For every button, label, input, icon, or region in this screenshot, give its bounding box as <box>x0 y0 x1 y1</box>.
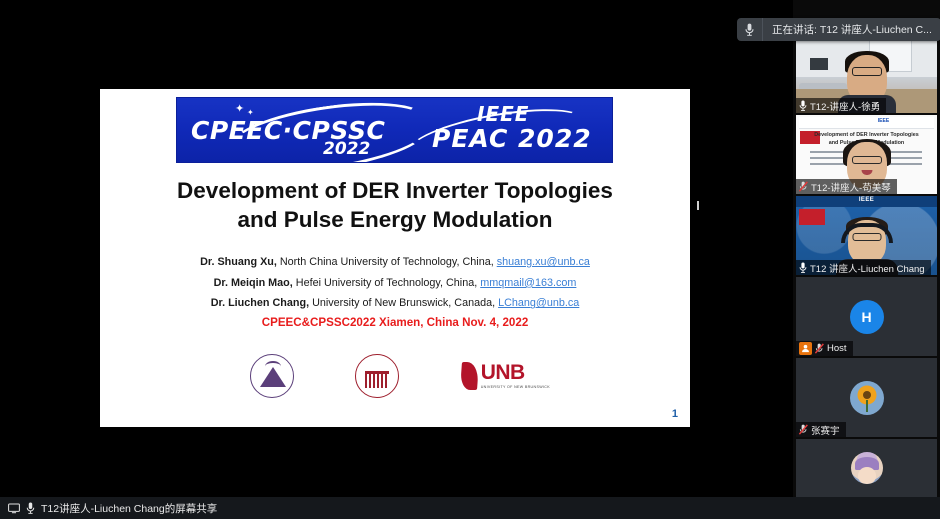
avatar <box>850 381 884 415</box>
microphone-muted-icon <box>799 424 808 435</box>
author-affiliation: Hefei University of Technology, China, <box>293 277 480 289</box>
participant-name: T12-讲座人-徐勇 <box>810 99 880 113</box>
north-china-university-of-technology-logo <box>250 354 294 398</box>
participant-namebar: T12-讲座人-徐勇 <box>796 98 886 113</box>
conference-venue-date: CPEEC&CPSSC2022 Xiamen, China Nov. 4, 20… <box>140 316 650 329</box>
participant-namebar: 张赛宇 <box>796 422 846 437</box>
microphone-icon <box>799 262 807 273</box>
microphone-muted-icon <box>799 181 808 192</box>
microphone-icon <box>26 502 35 514</box>
presentation-slide: ✦ ✦ CPEEC·CPSSC 2022 IEEE PEAC 2022 Deve… <box>100 89 690 427</box>
sponsor-logos: UNB UNIVERSITY OF NEW BRUNSWICK <box>250 352 550 400</box>
slide-title-line-2: and Pulse Energy Modulation <box>122 206 668 235</box>
microphone-icon <box>799 100 807 111</box>
participant-tile-gumeiqin[interactable]: IEEE Development of DER Inverter Topolog… <box>796 115 937 194</box>
host-badge-icon <box>799 342 812 355</box>
peac-logo-text: PEAC 2022 <box>432 124 592 153</box>
ieee-thumb-label: IEEE <box>878 118 889 124</box>
thumb-slide-title-1: Development of DER Inverter Topologies <box>802 132 931 138</box>
avatar <box>851 452 883 484</box>
author-name: Dr. Meiqin Mao, <box>214 277 293 289</box>
author-affiliation: North China University of Technology, Ch… <box>277 256 497 268</box>
author-name: Dr. Liuchen Chang, <box>211 297 309 309</box>
participant-tile-xuyong[interactable]: T12-讲座人-徐勇 <box>796 34 937 113</box>
unb-wordmark: UNB <box>481 363 550 382</box>
hefei-university-of-technology-logo <box>355 354 399 398</box>
microphone-icon <box>737 18 763 41</box>
screen-share-icon <box>8 503 20 514</box>
slide-title-line-1: Development of DER Inverter Topologies <box>122 177 668 206</box>
ieee-logo-text: IEEE <box>477 102 529 126</box>
participant-tile-partial[interactable] <box>796 439 937 497</box>
active-speaker-label: 正在讲话: T12 讲座人-Liuchen C... <box>763 22 932 37</box>
unb-sail-icon <box>460 362 479 390</box>
participant-tile-zhangsaiyu[interactable]: 张赛宇 <box>796 358 937 437</box>
active-speaker-pill[interactable]: 正在讲话: T12 讲座人-Liuchen C... <box>737 18 940 41</box>
slide-title: Development of DER Inverter Topologies a… <box>122 177 668 235</box>
participant-namebar: Host <box>796 341 853 356</box>
screen-share-statusbar: T12讲座人-Liuchen Chang的屏幕共享 <box>0 497 940 519</box>
unb-subtitle: UNIVERSITY OF NEW BRUNSWICK <box>481 385 550 389</box>
participant-strip[interactable]: T12-讲座人-徐勇 IEEE Development of DER Inver… <box>793 0 940 497</box>
author-email-link[interactable]: mmqmail@163.com <box>480 277 576 289</box>
mouse-cursor <box>697 201 699 210</box>
conference-banner: ✦ ✦ CPEEC·CPSSC 2022 IEEE PEAC 2022 <box>176 97 613 163</box>
author-name: Dr. Shuang Xu, <box>200 256 277 268</box>
unb-logo: UNB UNIVERSITY OF NEW BRUNSWICK <box>461 362 550 390</box>
author-list: Dr. Shuang Xu, North China University of… <box>140 252 650 314</box>
participant-tile-liuchen-chang[interactable]: IEEE T12 讲座人-Liuchen Chang <box>796 196 937 275</box>
ieee-backdrop-label: IEEE <box>859 197 874 203</box>
participant-name: T12-讲座人-苟美琴 <box>811 180 891 194</box>
participant-name: T12 讲座人-Liuchen Chang <box>810 261 925 275</box>
screen-share-label: T12讲座人-Liuchen Chang的屏幕共享 <box>41 501 217 516</box>
author-row: Dr. Shuang Xu, North China University of… <box>140 252 650 273</box>
participant-name: 张赛宇 <box>811 423 840 437</box>
participant-tile-host[interactable]: H Host <box>796 277 937 356</box>
participant-namebar: T12-讲座人-苟美琴 <box>796 179 897 194</box>
star-icon: ✦ <box>235 102 244 115</box>
avatar: H <box>850 300 884 334</box>
participant-namebar: T12 讲座人-Liuchen Chang <box>796 260 931 275</box>
cpeec-logo-year: 2022 <box>323 139 370 159</box>
shared-screen-stage: ✦ ✦ CPEEC·CPSSC 2022 IEEE PEAC 2022 Deve… <box>0 0 790 497</box>
author-affiliation: University of New Brunswick, Canada, <box>309 297 498 309</box>
zoom-meeting-window: 录制中 正在讲话: T12 讲座人-Liuchen C... ✦ ✦ CPEEC… <box>0 0 940 519</box>
participant-name: Host <box>827 343 847 354</box>
author-email-link[interactable]: LChang@unb.ca <box>498 297 579 309</box>
author-row: Dr. Liuchen Chang, University of New Bru… <box>140 293 650 314</box>
author-email-link[interactable]: shuang.xu@unb.ca <box>497 256 590 268</box>
author-row: Dr. Meiqin Mao, Hefei University of Tech… <box>140 273 650 294</box>
slide-page-number: 1 <box>672 408 678 420</box>
microphone-muted-icon <box>815 343 824 354</box>
